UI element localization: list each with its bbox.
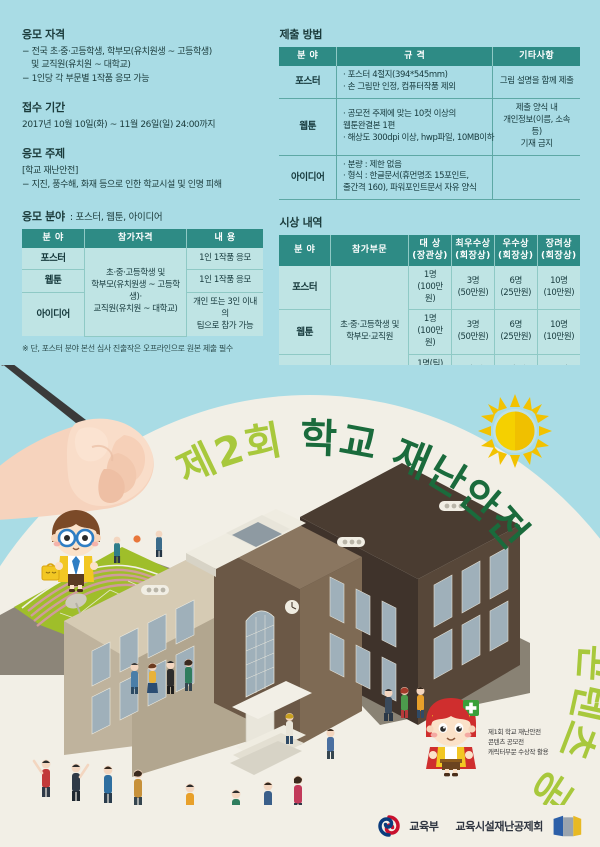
spec-line: · 포스터 4절지(394*545mm)	[343, 70, 488, 82]
awards-th-0: 분 야	[279, 235, 330, 266]
spec-line: · 해상도 300dpi 이상, hwp파일, 10MB이하	[343, 133, 488, 145]
eligibility-line-2: 및 교직원(유치원 ~ 대학교)	[22, 59, 263, 72]
field-name-webtoon: 웹툰	[22, 270, 85, 292]
table-row: 포스터 초·중·고등학생 및학부모(유치원생 ~ 고등학생)·교직원(유치원 ~…	[22, 248, 263, 270]
field-content-webtoon: 1인 1작품 응모	[186, 270, 263, 292]
boy-mascot-icon	[38, 508, 114, 592]
submission-etc-webtoon: 제출 양식 내개인정보(이름, 소속 등)기재 금지	[493, 99, 580, 156]
mascot-caption-line-1: 제1회 학교 재난안전	[488, 727, 548, 737]
submission-th-1: 규 격	[337, 47, 493, 66]
taegeuk-logo-icon	[378, 815, 400, 837]
contest-poster: 응모 자격 − 전국 초·중·고등학생, 학부모(유치원생 ~ 고등학생) 및 …	[0, 0, 600, 847]
field-content-poster: 1인 1작품 응모	[186, 248, 263, 270]
eligibility-title: 응모 자격	[22, 26, 263, 42]
field-qualification: 초·중·고등학생 및학부모(유치원생 ~ 고등학생)·교직원(유치원 ~ 대학교…	[85, 248, 186, 336]
submission-field-poster: 포스터	[279, 66, 336, 98]
efda-logo-icon	[552, 814, 582, 838]
submission-spec-webtoon: · 공모전 주제에 맞는 10컷 이상의 웹툰완결본 1편 · 해상도 300d…	[337, 99, 493, 156]
hand-icon	[0, 365, 182, 520]
awards-grand-poster: 1명(100만원)	[409, 266, 452, 310]
awards-th-2: 대 상(장관상)	[409, 235, 452, 266]
period-title: 접수 기간	[22, 99, 263, 115]
field-table-note: ※ 단, 포스터 분야 본선 심사 진출작은 오프라인으로 원본 제출 필수	[22, 343, 263, 354]
submission-th-0: 분 야	[279, 47, 336, 66]
table-row: 포스터 · 포스터 4절지(394*545mm) · 손 그림만 인정, 컴퓨터…	[279, 66, 580, 98]
field-table-th-0: 분 야	[22, 229, 85, 248]
right-info-column: 제출 방법 분 야 규 격 기타사항 포스터 · 포스터 4절	[279, 26, 580, 365]
fields-rest: : 포스터, 웹툰, 아이디어	[70, 212, 162, 223]
spec-line: · 형식 : 한글문서(휴먼명조 15포인트,	[343, 171, 488, 183]
submission-etc-poster: 그림 설명을 함께 제출	[493, 66, 580, 98]
submission-th-2: 기타사항	[493, 47, 580, 66]
awards-title: 시상 내역	[279, 214, 580, 230]
awards-best-webtoon: 3명(50만원)	[452, 310, 495, 355]
theme-subject: [학교 재난안전]	[22, 165, 263, 178]
submission-table: 분 야 규 격 기타사항 포스터 · 포스터 4절지(394*545mm) · …	[279, 47, 580, 200]
submission-spec-idea: · 분량 : 제한 없음 · 형식 : 한글문서(휴먼명조 15포인트, 줄간격…	[337, 155, 493, 200]
submission-header-row: 분 야 규 격 기타사항	[279, 47, 580, 66]
awards-encourage-poster: 10명(10만원)	[537, 266, 580, 310]
mascot-caption-line-2: 콘텐츠 공모전	[488, 737, 548, 747]
table-row: 아이디어 · 분량 : 제한 없음 · 형식 : 한글문서(휴먼명조 15포인트…	[279, 155, 580, 200]
field-table: 분 야 참가자격 내 용 포스터 초·중·고등학생 및학부모(유치원생 ~ 고등…	[22, 229, 263, 337]
theme-detail: − 지진, 풍수해, 화재 등으로 인한 학교시설 및 인명 피해	[22, 179, 263, 192]
field-table-header-row: 분 야 참가자격 내 용	[22, 229, 263, 248]
mascot-caption-line-3: 캐릭터부문 수상작 활용	[488, 747, 548, 757]
awards-excellent-webtoon: 6명(25만원)	[494, 310, 537, 355]
fields-row: 응모 분야 : 포스터, 웹툰, 아이디어	[22, 205, 263, 224]
girl-mascot-icon	[418, 697, 484, 777]
awards-th-5: 장려상(회장상)	[537, 235, 580, 266]
awards-best-poster: 3명(50만원)	[452, 266, 495, 310]
table-row: 웹툰 1명(100만원) 3명(50만원) 6명(25만원) 10명(10만원)	[279, 310, 580, 355]
submission-etc-idea	[493, 155, 580, 200]
efda-label: 교육시설재난공제회	[456, 818, 543, 834]
submission-spec-poster: · 포스터 4절지(394*545mm) · 손 그림만 인정, 컴퓨터작품 제…	[337, 66, 493, 98]
field-name-idea: 아이디어	[22, 292, 85, 336]
field-table-th-2: 내 용	[186, 229, 263, 248]
submission-field-idea: 아이디어	[279, 155, 336, 200]
illustration-area: 제2회 학교 재난안전 콘텐츠 공모전	[0, 365, 600, 847]
submission-field-webtoon: 웹툰	[279, 99, 336, 156]
awards-field-poster: 포스터	[279, 266, 330, 310]
spec-line: · 공모전 주제에 맞는 10컷 이상의	[343, 109, 488, 121]
awards-th-4: 우수상(회장상)	[494, 235, 537, 266]
info-panel: 응모 자격 − 전국 초·중·고등학생, 학부모(유치원생 ~ 고등학생) 및 …	[0, 0, 600, 365]
spec-line: 줄간격 160), 파워포인트문서 자유 양식	[343, 183, 488, 195]
spec-line: 웹툰완결본 1편	[343, 121, 488, 133]
table-row: 웹툰 · 공모전 주제에 맞는 10컷 이상의 웹툰완결본 1편 · 해상도 3…	[279, 99, 580, 156]
submission-title: 제출 방법	[279, 26, 580, 42]
field-name-poster: 포스터	[22, 248, 85, 270]
field-content-idea: 개인 또는 3인 이내의팀으로 참가 가능	[186, 292, 263, 336]
table-row: 포스터 초·중·고등학생 및학부모·교직원 1명(100만원) 3명(50만원)…	[279, 266, 580, 310]
moe-label: 교육부	[409, 818, 438, 834]
awards-header-row: 분 야 참가부문 대 상(장관상) 최우수상(회장상) 우수상(회장상) 장려상…	[279, 235, 580, 266]
awards-field-webtoon: 웹툰	[279, 310, 330, 355]
spec-line: · 손 그림만 인정, 컴퓨터작품 제외	[343, 82, 488, 94]
awards-grand-webtoon: 1명(100만원)	[409, 310, 452, 355]
awards-th-3: 최우수상(회장상)	[452, 235, 495, 266]
awards-th-1: 참가부문	[331, 235, 409, 266]
fields-head: 응모 분야	[22, 210, 65, 223]
eligibility-line-3: − 1인당 각 부문별 1작품 응모 가능	[22, 73, 263, 86]
awards-encourage-webtoon: 10명(10만원)	[537, 310, 580, 355]
awards-excellent-poster: 6명(25만원)	[494, 266, 537, 310]
spec-line: · 분량 : 제한 없음	[343, 160, 488, 172]
theme-title: 응모 주제	[22, 145, 263, 161]
period-value: 2017년 10월 10일(화) ~ 11월 26일(일) 24:00까지	[22, 119, 263, 132]
mascot-caption: 제1회 학교 재난안전 콘텐츠 공모전 캐릭터부문 수상작 활용	[488, 727, 548, 757]
left-info-column: 응모 자격 − 전국 초·중·고등학생, 학부모(유치원생 ~ 고등학생) 및 …	[22, 26, 263, 365]
footer-bar: 교육부 교육시설재난공제회	[0, 805, 600, 847]
eligibility-line-1: − 전국 초·중·고등학생, 학부모(유치원생 ~ 고등학생)	[22, 46, 263, 59]
field-table-th-1: 참가자격	[85, 229, 186, 248]
